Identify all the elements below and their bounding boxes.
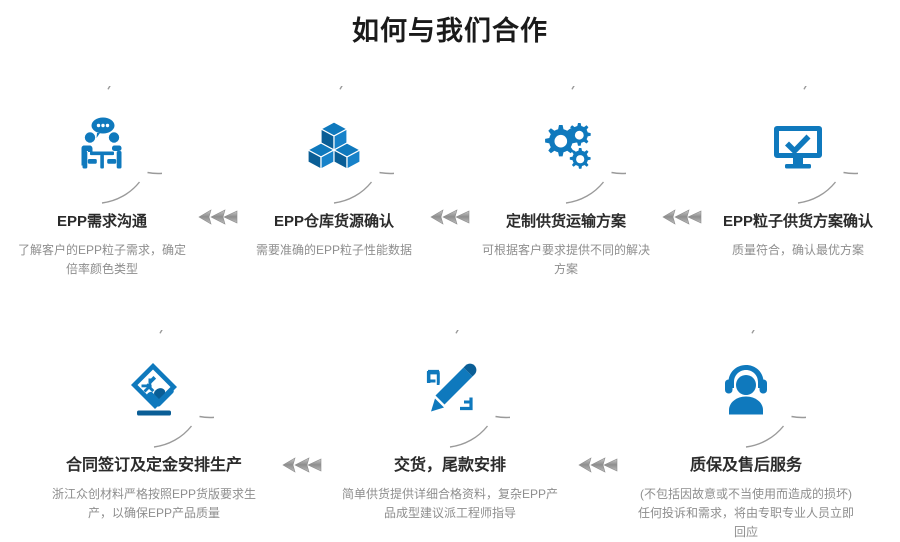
step-title: 质保及售后服务 (690, 456, 802, 476)
headset-support-icon (715, 359, 777, 421)
monitor-check-icon (767, 115, 829, 177)
step-card-epp-demand[interactable]: EPP需求沟通 了解客户的EPP粒子需求，确定倍率颜色类型 (8, 86, 196, 279)
process-flow-page: 如何与我们合作 (0, 0, 900, 538)
step-card-warranty-service[interactable]: 质保及售后服务 (不包括因故意或不当使用而造成的损坏)任何投诉和需求，将由专职专… (620, 330, 872, 542)
meeting-discussion-icon (71, 115, 133, 177)
flow-arrow-icon (428, 208, 472, 226)
step-description: 需要准确的EPP粒子性能数据 (256, 241, 412, 260)
step-title: EPP粒子供货方案确认 (723, 212, 873, 232)
process-row-second: 合同签订及定金安排生产 浙江众创材料严格按照EPP货版要求生产，以确保EPP产品… (0, 330, 900, 542)
step-icon-circle (390, 330, 510, 450)
pencil-design-icon (419, 359, 481, 421)
step-card-supply-plan-confirm[interactable]: EPP粒子供货方案确认 质量符合，确认最优方案 (704, 86, 892, 260)
flow-arrow-icon (196, 208, 240, 226)
step-description: 可根据客户要求提供不同的解决方案 (478, 241, 654, 279)
step-icon-circle (94, 330, 214, 450)
step-description: 质量符合，确认最优方案 (732, 241, 864, 260)
step-description: 简单供货提供详细合格资料，复杂EPP产品成型建议派工程师指导 (339, 485, 561, 523)
step-title: 合同签订及定金安排生产 (66, 456, 242, 476)
step-title: EPP仓库货源确认 (274, 212, 394, 232)
step-card-warehouse-confirm[interactable]: EPP仓库货源确认 需要准确的EPP粒子性能数据 (240, 86, 428, 260)
process-row-first: EPP需求沟通 了解客户的EPP粒子需求，确定倍率颜色类型 (0, 86, 900, 279)
step-icon-circle (738, 86, 858, 206)
hand-contract-sign-icon (123, 359, 185, 421)
step-title: 交货，尾款安排 (394, 456, 506, 476)
step-icon-circle (274, 86, 394, 206)
step-description: 了解客户的EPP粒子需求，确定倍率颜色类型 (14, 241, 190, 279)
flow-arrow-icon (280, 456, 324, 474)
gears-icon (535, 115, 597, 177)
step-card-delivery-balance[interactable]: 交货，尾款安排 简单供货提供详细合格资料，复杂EPP产品成型建议派工程师指导 (324, 330, 576, 523)
flow-arrow-icon (576, 456, 620, 474)
stacked-boxes-icon (303, 115, 365, 177)
step-card-contract-deposit[interactable]: 合同签订及定金安排生产 浙江众创材料严格按照EPP货版要求生产，以确保EPP产品… (28, 330, 280, 523)
flow-arrow-icon (660, 208, 704, 226)
step-title: EPP需求沟通 (57, 212, 147, 232)
step-card-custom-logistics[interactable]: 定制供货运输方案 可根据客户要求提供不同的解决方案 (472, 86, 660, 279)
step-icon-circle (506, 86, 626, 206)
step-icon-circle (686, 330, 806, 450)
page-title: 如何与我们合作 (0, 14, 900, 48)
step-description: 浙江众创材料严格按照EPP货版要求生产，以确保EPP产品质量 (43, 485, 265, 523)
step-description: (不包括因故意或不当使用而造成的损坏)任何投诉和需求，将由专职专业人员立即回应 (635, 485, 857, 542)
step-icon-circle (42, 86, 162, 206)
step-title: 定制供货运输方案 (506, 212, 626, 232)
